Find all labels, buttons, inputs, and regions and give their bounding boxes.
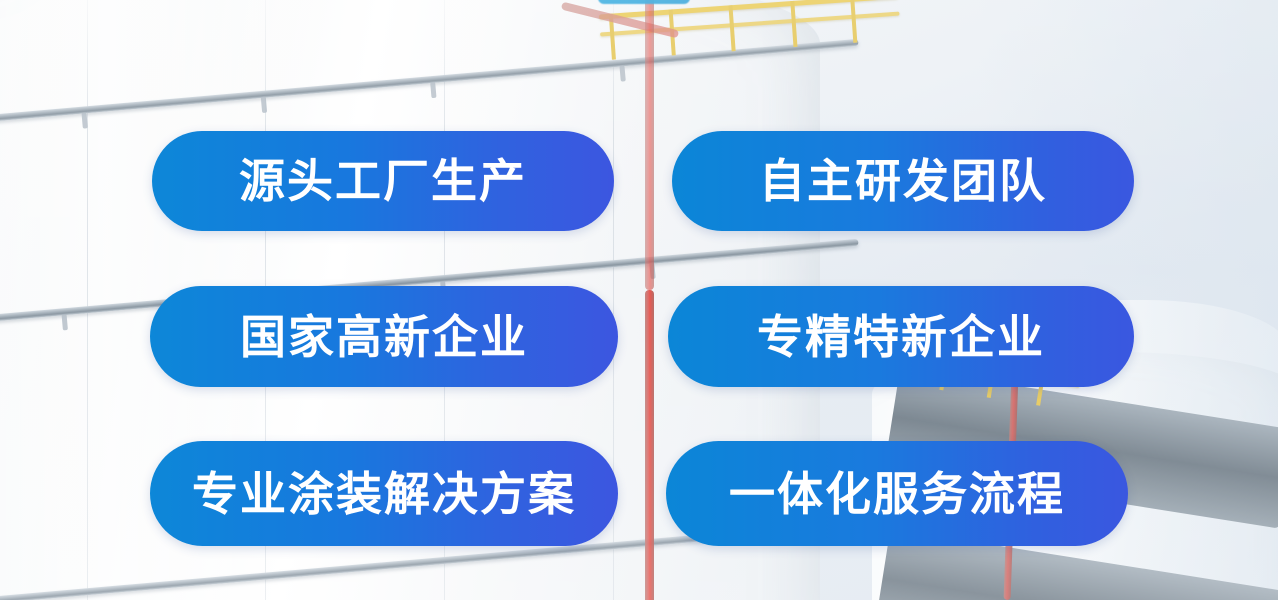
promo-banner: 源头工厂生产 自主研发团队 国家高新企业 专精特新企业 专业涂装解决方案 一体化… <box>0 0 1278 600</box>
badge-label: 专精特新企业 <box>757 314 1045 360</box>
badge-professional-coating-solution[interactable]: 专业涂装解决方案 <box>150 441 618 546</box>
badge-label: 源头工厂生产 <box>239 158 527 204</box>
badge-label: 一体化服务流程 <box>729 471 1065 517</box>
badge-national-hi-tech-enterprise[interactable]: 国家高新企业 <box>150 286 618 387</box>
badge-in-house-rnd-team[interactable]: 自主研发团队 <box>672 131 1134 231</box>
badge-specialized-new-enterprise[interactable]: 专精特新企业 <box>668 286 1134 387</box>
badge-label: 国家高新企业 <box>240 314 528 360</box>
badge-label: 自主研发团队 <box>759 158 1047 204</box>
badge-label: 专业涂装解决方案 <box>192 471 576 517</box>
badge-source-factory-production[interactable]: 源头工厂生产 <box>152 131 614 231</box>
feature-badge-grid: 源头工厂生产 自主研发团队 国家高新企业 专精特新企业 专业涂装解决方案 一体化… <box>0 0 1278 600</box>
badge-integrated-service-process[interactable]: 一体化服务流程 <box>666 441 1128 546</box>
